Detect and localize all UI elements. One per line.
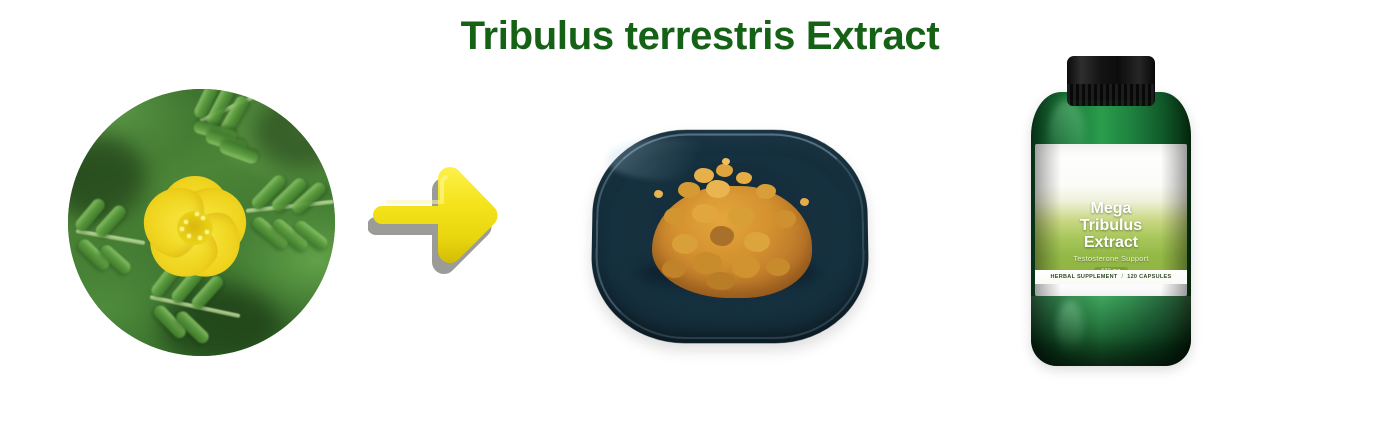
brand-line-3: Extract <box>1035 234 1187 251</box>
powder-crumb <box>736 172 752 184</box>
tribulus-flower <box>120 153 270 303</box>
powder-crumb <box>710 226 734 246</box>
stamen <box>187 234 191 238</box>
product-infographic: Tribulus terrestris Extract <box>0 0 1400 437</box>
process-arrow-icon <box>368 162 504 278</box>
powder-crumb <box>728 206 754 226</box>
powder-crumb <box>732 256 760 278</box>
bottle-cap-ribs <box>1067 84 1155 106</box>
powder-crumb <box>664 208 686 225</box>
powder-crumb <box>678 182 700 198</box>
stamen <box>201 216 205 220</box>
powder-crumb <box>706 180 730 198</box>
stamen <box>205 230 209 234</box>
supplement-bottle: Mega Tribulus Extract Testosterone Suppo… <box>1031 56 1191 366</box>
stamen <box>198 236 202 240</box>
brand-line-1: Mega <box>1035 200 1187 217</box>
extract-powder-dish <box>592 128 868 342</box>
powder-crumb <box>706 272 736 290</box>
powder-mound <box>648 164 816 300</box>
powder-crumb <box>774 210 796 228</box>
label-footer-separator: / <box>1122 274 1124 280</box>
bottle-base-highlight <box>1057 300 1083 354</box>
label-footer-right: 120 CAPSULES <box>1127 274 1171 280</box>
brand-line-2: Tribulus <box>1035 217 1187 234</box>
stamen <box>180 227 184 231</box>
label-footer-strip: HERBAL SUPPLEMENT / 120 CAPSULES <box>1035 270 1187 284</box>
stamen <box>184 220 188 224</box>
powder-crumb <box>692 252 722 274</box>
powder-crumb <box>672 234 698 254</box>
powder-crumb <box>716 164 733 177</box>
label-footer-left: HERBAL SUPPLEMENT <box>1051 274 1118 280</box>
label-tagline: Testosterone Support <box>1035 254 1187 263</box>
powder-crumb <box>722 158 730 165</box>
label-brand-name: Mega Tribulus Extract <box>1035 200 1187 251</box>
stamen <box>195 212 199 216</box>
powder-crumb <box>766 258 790 276</box>
tribulus-plant-photo <box>68 89 335 356</box>
powder-crumb <box>800 198 809 206</box>
powder-crumb <box>692 204 718 223</box>
page-title: Tribulus terrestris Extract <box>0 14 1400 59</box>
powder-crumb <box>662 260 686 278</box>
powder-crumb <box>756 184 776 199</box>
powder-crumb <box>654 190 663 198</box>
bottle-label: Mega Tribulus Extract Testosterone Suppo… <box>1035 144 1187 296</box>
powder-crumb <box>744 232 770 252</box>
